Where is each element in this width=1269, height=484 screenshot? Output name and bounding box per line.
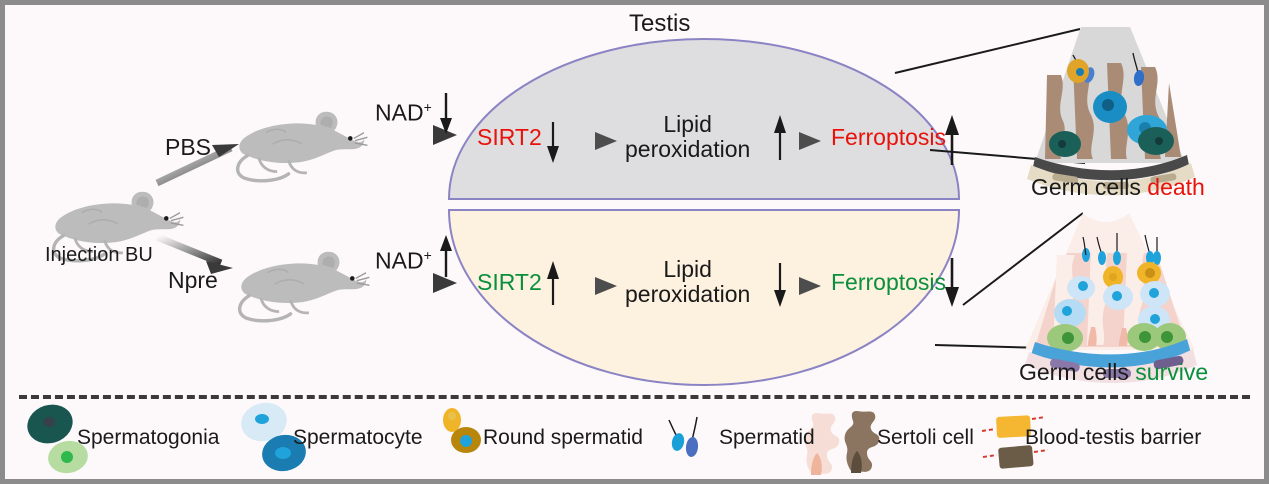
legend-icon-sertoli-cell <box>805 411 880 475</box>
legend-label-blood-testis-barrier: Blood-testis barrier <box>1025 427 1201 449</box>
branch-label-npre: Npre <box>168 268 218 292</box>
lipid-line1-top: Lipid <box>625 112 750 137</box>
legend-label-spermatogonia: Spermatogonia <box>77 427 219 449</box>
nad-label-top: NAD+ <box>375 100 432 125</box>
mouse-npre <box>240 252 370 321</box>
nad-superscript-bottom: + <box>424 247 432 263</box>
node-lipid-peroxidation-bottom: Lipid peroxidation <box>625 257 750 307</box>
nad-down-arrow-icon <box>440 93 452 134</box>
lipid-line2-top: peroxidation <box>625 137 750 162</box>
node-ferroptosis-bottom: Ferroptosis <box>831 270 946 294</box>
nad-text-bottom: NAD <box>375 248 424 274</box>
legend-label-spermatocyte: Spermatocyte <box>293 427 423 449</box>
outcome-prefix-top: Germ cells <box>1031 174 1147 200</box>
node-sirt2-top: SIRT2 <box>477 125 542 149</box>
page-title: Testis <box>629 11 690 36</box>
legend-icon-spermatid <box>669 417 699 458</box>
arrow-to-testis-bottom <box>365 273 457 293</box>
mouse-pbs <box>238 112 368 181</box>
injection-label: Injection BU <box>45 245 153 266</box>
arrow-to-testis-top <box>363 125 457 145</box>
outcome-top: Germ cells death <box>1031 175 1205 199</box>
leader-line-top-a <box>895 29 1080 73</box>
node-sirt2-bottom: SIRT2 <box>477 270 542 294</box>
figure-canvas: Testis PBS Npre Injection BU NAD+ NAD+ S… <box>5 5 1264 479</box>
ferroptosis-down-arrow-icon-bottom <box>945 258 959 307</box>
outcome-word-bottom: survive <box>1135 359 1208 385</box>
branch-label-pbs: PBS <box>165 135 211 159</box>
outcome-bottom: Germ cells survive <box>1019 360 1208 384</box>
tubule-damaged <box>1027 27 1195 195</box>
node-ferroptosis-top: Ferroptosis <box>831 125 946 149</box>
nad-text-top: NAD <box>375 100 424 126</box>
legend-divider <box>19 395 1250 399</box>
legend-label-sertoli-cell: Sertoli cell <box>877 427 974 449</box>
lipid-line2-bottom: peroxidation <box>625 282 750 307</box>
nad-up-arrow-icon <box>440 235 452 277</box>
diagram-svg <box>5 5 1264 479</box>
outcome-word-top: death <box>1147 174 1205 200</box>
outcome-prefix-bottom: Germ cells <box>1019 359 1135 385</box>
nad-label-bottom: NAD+ <box>375 248 432 273</box>
nad-superscript-top: + <box>424 99 432 115</box>
legend-label-round-spermatid: Round spermatid <box>483 427 643 449</box>
lipid-line1-bottom: Lipid <box>625 257 750 282</box>
node-lipid-peroxidation-top: Lipid peroxidation <box>625 112 750 162</box>
legend-label-spermatid: Spermatid <box>719 427 815 449</box>
legend-icon-round-spermatid <box>443 408 481 453</box>
